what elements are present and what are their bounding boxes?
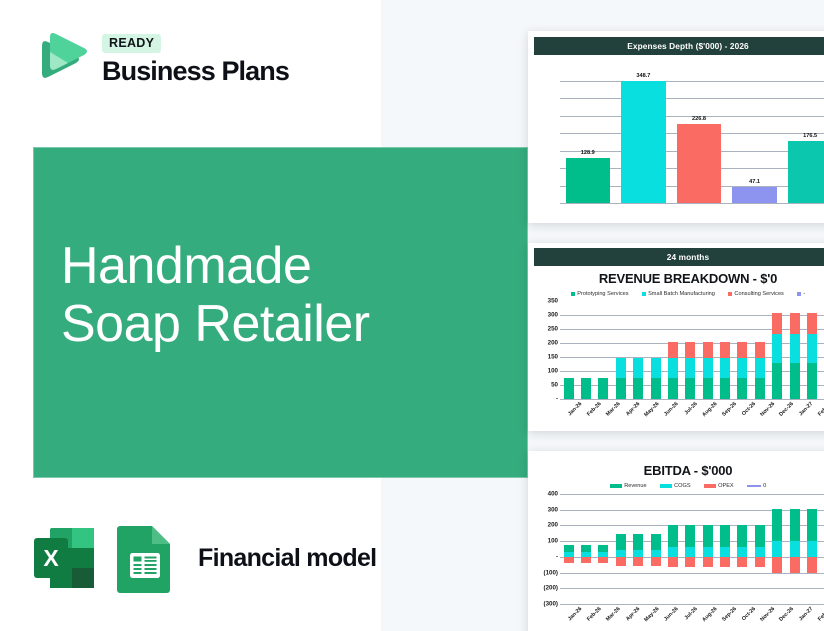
bar-segment — [807, 334, 817, 363]
bar-segment — [685, 358, 695, 378]
bar-segment — [668, 358, 678, 378]
x-tick-wrap: May-26 — [637, 606, 656, 630]
ebitda-legend: RevenueCOGSOPEX0 — [528, 483, 824, 489]
bar-segment — [668, 342, 678, 359]
bar-column: 47.1 — [732, 63, 776, 203]
y-tick-label: 200 — [548, 340, 558, 347]
y-tick-label: 150 — [548, 354, 558, 361]
x-tick-wrap: Sep-26 — [714, 606, 733, 630]
bar-segment — [703, 378, 713, 399]
bar-segment — [720, 342, 730, 359]
bar-segment — [651, 378, 661, 399]
bar-segment — [772, 363, 782, 399]
legend-swatch-icon — [610, 484, 622, 488]
bar-column — [668, 301, 678, 399]
bar-column — [755, 301, 765, 399]
bar-segment — [755, 358, 765, 378]
bar-column — [651, 301, 661, 399]
x-tick-wrap: Feb-26 — [579, 606, 598, 630]
x-tick-wrap: Jan-26 — [560, 606, 579, 630]
bar-segment — [732, 187, 776, 203]
legend-item: 0 — [747, 483, 767, 489]
ebitda-zero-line — [560, 494, 824, 604]
bar-column: 226.8 — [677, 63, 721, 203]
y-tick-label: 100 — [548, 368, 558, 375]
bar-column — [616, 301, 626, 399]
play-double-triangle-logo-icon — [30, 30, 90, 90]
bar-column: 176.5 — [788, 63, 824, 203]
y-tick-label: 100 — [548, 538, 558, 545]
legend-item: COGS — [660, 483, 691, 489]
bar-segment — [703, 342, 713, 359]
bar-segment — [772, 334, 782, 363]
ebitda-chart-title: EBITDA - $'000 — [528, 463, 824, 478]
gridline — [560, 399, 824, 400]
bar-segment — [720, 358, 730, 378]
legend-label: Prototyping Services — [577, 291, 628, 297]
expenses-bars: 128.9348.7226.847.1176.5 — [560, 63, 824, 203]
bar-column — [807, 301, 817, 399]
expenses-depth-card: Expenses Depth ($'000) - 2026 128.9348.7… — [528, 31, 824, 223]
bar-segment — [737, 342, 747, 359]
legend-swatch-icon — [660, 484, 672, 488]
microsoft-excel-icon: X — [30, 524, 98, 592]
revenue-legend: Prototyping ServicesSmall Batch Manufact… — [528, 291, 824, 297]
bar-segment — [737, 378, 747, 399]
bar-segment — [566, 158, 610, 203]
legend-label: COGS — [674, 483, 690, 489]
gridline — [560, 203, 824, 204]
bar-column: 128.9 — [566, 63, 610, 203]
ebitda-plot-area: 400300200100-(100)(200)(300) — [534, 494, 824, 604]
revenue-breakdown-card: 24 months REVENUE BREAKDOWN - $'0 Protot… — [528, 243, 824, 431]
legend-label: OPEX — [718, 483, 734, 489]
bar-value-label: 176.5 — [803, 133, 817, 139]
bar-segment — [598, 378, 608, 399]
y-tick-label: 400 — [548, 491, 558, 498]
bar-segment — [633, 378, 643, 399]
y-tick-label: 200 — [548, 522, 558, 529]
bar-segment — [685, 378, 695, 399]
bar-segment — [788, 141, 824, 203]
bar-column — [633, 301, 643, 399]
legend-swatch-icon — [571, 292, 575, 296]
bar-segment — [677, 124, 721, 203]
legend-swatch-icon — [704, 484, 716, 488]
bar-segment — [790, 334, 800, 363]
ebitda-x-axis: Jan-26Feb-26Mar-26Apr-26May-26Jun-26Jul-… — [560, 606, 824, 630]
bar-column: 348.7 — [621, 63, 665, 203]
x-tick-wrap: Apr-26 — [618, 606, 637, 630]
x-tick-wrap: Mar-26 — [599, 401, 618, 425]
bar-column — [790, 301, 800, 399]
footer-format-block: X Financial model — [30, 523, 376, 593]
x-tick-wrap: Mar-26 — [599, 606, 618, 630]
x-tick-label: Feb-27 — [817, 401, 824, 418]
x-tick-wrap: Feb-26 — [579, 401, 598, 425]
legend-item: Revenue — [610, 483, 647, 489]
bar-segment — [790, 363, 800, 399]
y-tick-label: (100) — [544, 569, 558, 576]
bar-column — [772, 301, 782, 399]
bar-segment — [737, 358, 747, 378]
ebitda-card: EBITDA - $'000 RevenueCOGSOPEX0 40030020… — [528, 451, 824, 631]
legend-swatch-icon — [747, 485, 761, 487]
bar-segment — [668, 378, 678, 399]
legend-label: Consulting Services — [734, 291, 783, 297]
bar-segment — [807, 363, 817, 399]
bar-segment — [772, 313, 782, 333]
x-tick-wrap: Dec-26 — [772, 606, 791, 630]
x-tick-wrap: Aug-26 — [695, 401, 714, 425]
x-tick-wrap: Oct-26 — [733, 401, 752, 425]
bar-segment — [755, 378, 765, 399]
bar-segment — [703, 358, 713, 378]
page-title: Handmade Soap Retailer — [61, 237, 370, 353]
bar-segment — [685, 342, 695, 359]
x-tick-wrap: Nov-26 — [753, 401, 772, 425]
y-tick-label: (300) — [544, 601, 558, 608]
bar-segment — [755, 342, 765, 359]
x-tick-wrap: Nov-26 — [753, 606, 772, 630]
bar-column — [737, 301, 747, 399]
bar-column — [720, 301, 730, 399]
legend-label: Small Batch Manufacturing — [648, 291, 715, 297]
x-tick-wrap: Jan-27 — [791, 606, 810, 630]
y-tick-label: 300 — [548, 312, 558, 319]
bar-value-label: 348.7 — [636, 73, 650, 79]
legend-item: - — [797, 291, 805, 297]
expenses-plot-area: 128.9348.7226.847.1176.5 — [534, 63, 824, 203]
expenses-y-axis — [534, 63, 560, 203]
bar-column — [564, 301, 574, 399]
x-tick-wrap: Jun-26 — [656, 401, 675, 425]
legend-item: Small Batch Manufacturing — [642, 291, 715, 297]
x-tick-wrap: Dec-26 — [772, 401, 791, 425]
revenue-chart-title: REVENUE BREAKDOWN - $'0 — [528, 271, 824, 286]
x-tick-wrap: Oct-26 — [733, 606, 752, 630]
legend-item: OPEX — [704, 483, 734, 489]
brand-text-block: READY Business Plans — [102, 34, 289, 85]
poster-canvas: READY Business Plans Handmade Soap Retai… — [0, 0, 824, 631]
hero-green-panel: Handmade Soap Retailer — [33, 147, 528, 478]
bar-segment — [651, 358, 661, 378]
bar-segment — [720, 378, 730, 399]
revenue-plot-area: 35030025020015010050- — [534, 301, 824, 399]
x-tick-wrap: Jan-26 — [560, 401, 579, 425]
bar-column — [685, 301, 695, 399]
bar-segment — [581, 378, 591, 399]
x-tick-wrap: Feb-27 — [810, 606, 824, 630]
y-tick-label: 300 — [548, 506, 558, 513]
ebitda-y-axis: 400300200100-(100)(200)(300) — [534, 494, 560, 604]
y-tick-label: (200) — [544, 585, 558, 592]
bar-segment — [616, 358, 626, 378]
bar-segment — [621, 81, 665, 203]
y-tick-label: - — [556, 396, 558, 403]
y-tick-label: 50 — [551, 382, 558, 389]
bar-segment — [616, 378, 626, 399]
legend-label: - — [803, 291, 805, 297]
bar-value-label: 128.9 — [581, 150, 595, 156]
x-tick-wrap: Jun-26 — [656, 606, 675, 630]
x-tick-wrap: Sep-26 — [714, 401, 733, 425]
x-tick-wrap: Feb-27 — [810, 401, 824, 425]
bar-column — [703, 301, 713, 399]
bar-segment — [564, 378, 574, 399]
legend-label: 0 — [763, 483, 766, 489]
legend-swatch-icon — [728, 292, 732, 296]
legend-item: Prototyping Services — [571, 291, 629, 297]
bar-segment — [633, 358, 643, 378]
legend-swatch-icon — [642, 292, 646, 296]
bar-segment — [807, 313, 817, 333]
legend-swatch-icon — [797, 292, 801, 296]
bar-value-label: 226.8 — [692, 116, 706, 122]
x-tick-wrap: Apr-26 — [618, 401, 637, 425]
revenue-header-bar: 24 months — [534, 248, 824, 266]
x-tick-wrap: Aug-26 — [695, 606, 714, 630]
gridline — [560, 604, 824, 605]
x-tick-label: Feb-27 — [817, 606, 824, 623]
bar-column — [581, 301, 591, 399]
brand-logo-block: READY Business Plans — [30, 30, 289, 90]
bar-value-label: 47.1 — [749, 179, 760, 185]
svg-text:X: X — [43, 545, 59, 571]
y-tick-label: 350 — [548, 298, 558, 305]
legend-item: Consulting Services — [728, 291, 784, 297]
x-tick-wrap: Jul-26 — [676, 606, 695, 630]
bar-segment — [790, 313, 800, 333]
x-tick-wrap: May-26 — [637, 401, 656, 425]
expenses-header-bar: Expenses Depth ($'000) - 2026 — [534, 37, 824, 55]
y-tick-label: - — [556, 553, 558, 560]
x-tick-wrap: Jul-26 — [676, 401, 695, 425]
financial-model-label: Financial model — [198, 544, 376, 573]
google-sheets-icon — [114, 523, 176, 593]
brand-title: Business Plans — [102, 57, 289, 85]
y-tick-label: 250 — [548, 326, 558, 333]
legend-label: Revenue — [624, 483, 646, 489]
revenue-y-axis: 35030025020015010050- — [534, 301, 560, 399]
revenue-bars — [560, 301, 824, 399]
revenue-x-axis: Jan-26Feb-26Mar-26Apr-26May-26Jun-26Jul-… — [560, 401, 824, 425]
bar-column — [598, 301, 608, 399]
x-tick-wrap: Jan-27 — [791, 401, 810, 425]
ready-badge: READY — [102, 34, 161, 53]
